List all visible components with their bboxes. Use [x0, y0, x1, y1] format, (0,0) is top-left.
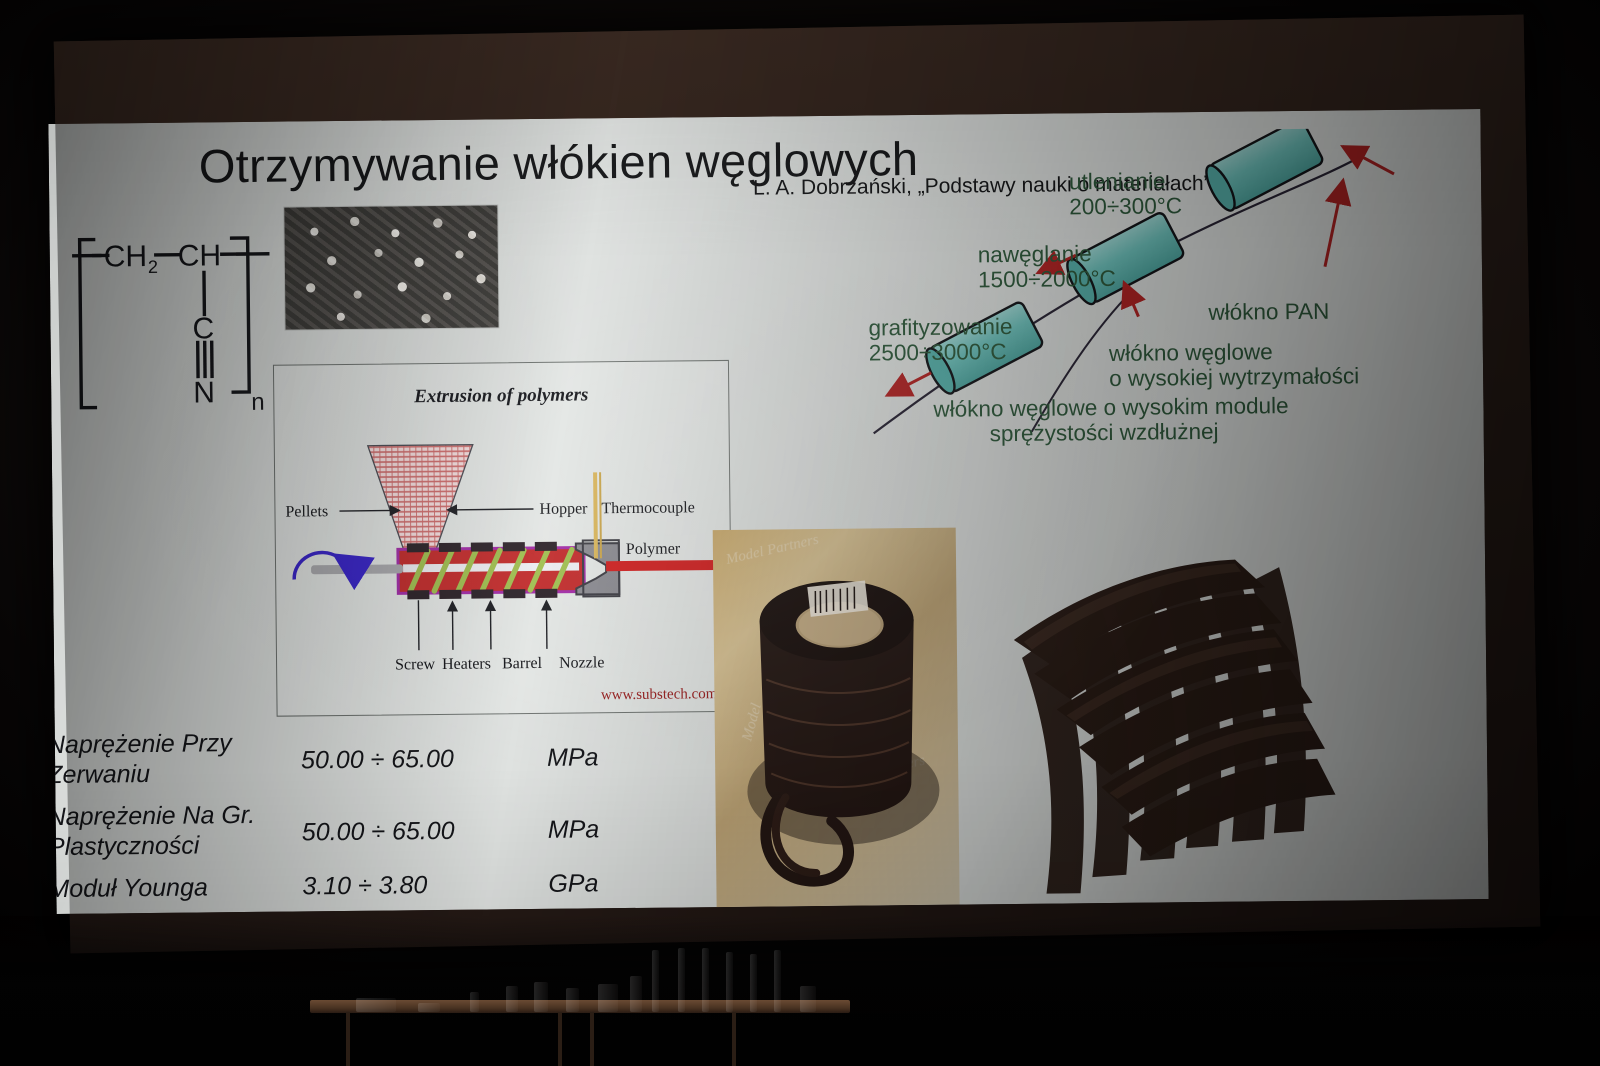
label-line2: o wysokiej wytrzymałości	[1109, 364, 1359, 392]
label-line1: włókno PAN	[1208, 299, 1329, 325]
glassware-item	[506, 986, 518, 1012]
bench-leg	[558, 1012, 562, 1066]
schematic-label-wysoki-modul: włókno węglowe o wysokim module sprężyst…	[933, 393, 1289, 448]
property-name-line1: Naprężenie Przy	[48, 729, 231, 759]
pan-structural-formula: CH 2 CH C N n	[71, 210, 283, 417]
extrusion-diagram-panel: Extrusion of polymers	[273, 360, 733, 717]
label-line1: włókno węglowe o wysokim module	[933, 393, 1288, 422]
page-title: Otrzymywanie włókien węglowych	[199, 129, 1100, 193]
glassware-item	[418, 1003, 440, 1012]
glassware-item	[598, 984, 618, 1012]
schematic-label-grafityzowanie: grafityzowanie 2500÷3000°C	[868, 314, 1012, 366]
glassware-item	[726, 952, 733, 1012]
property-value: 50.00 ÷ 65.00	[301, 745, 454, 776]
formula-c: C	[192, 312, 214, 345]
label-nozzle: Nozzle	[559, 654, 604, 671]
book-credit: L. A. Dobrzański, „Podstawy nauki o mate…	[753, 172, 1211, 201]
glassware-item	[800, 986, 816, 1012]
source-url: www.substech.com	[601, 686, 718, 704]
polymer-pellets-photo	[284, 205, 498, 329]
label-line2: sprężystości wzdłużnej	[934, 419, 1219, 447]
property-name-line1: Naprężenie Na Gr.	[48, 801, 255, 831]
projection-screen-frame: Otrzymywanie włókien węglowych	[54, 15, 1540, 954]
label-screw: Screw	[395, 656, 436, 673]
schematic-label-utlenianie: utlenianie 200÷300°C	[1069, 168, 1182, 220]
extrusion-diagram-svg: Pellets Hopper Thermocouple Polymer Scre…	[274, 361, 732, 716]
label-line2: 2500÷3000°C	[869, 339, 1007, 365]
property-unit: MPa	[548, 815, 600, 845]
glassware-item	[534, 982, 548, 1012]
glassware-item	[678, 948, 685, 1012]
label-line1: nawęglanie	[978, 241, 1092, 267]
label-pellets: Pellets	[285, 503, 328, 520]
svg-text:Model Partners: Model Partners	[723, 532, 820, 568]
glassware-item	[470, 992, 479, 1012]
slide-canvas: Otrzymywanie włókien węglowych	[48, 109, 1488, 914]
svg-text:Model: Model	[739, 702, 765, 744]
label-thermocouple: Thermocouple	[601, 499, 694, 517]
lab-bench	[300, 948, 860, 1066]
property-unit: MPa	[547, 743, 599, 773]
label-heaters: Heaters	[442, 655, 491, 673]
formula-n: N	[193, 376, 215, 409]
schematic-label-wysoka-wytrzymalosc: włókno węglowe o wysokiej wytrzymałości	[1109, 338, 1360, 391]
glassware-item	[774, 950, 781, 1012]
glassware-item	[652, 950, 659, 1012]
property-value: 50.00 ÷ 65.00	[302, 817, 455, 848]
fibre-schematic-svg	[739, 127, 1484, 465]
glassware-item	[566, 988, 579, 1012]
glassware-item	[356, 998, 396, 1012]
fibre-conversion-schematic	[739, 127, 1484, 465]
extrusion-diagram-title: Extrusion of polymers	[274, 383, 728, 410]
label-polymer: Polymer	[626, 540, 681, 558]
schematic-label-nawęglanie: nawęglanie 1500÷2000°C	[978, 241, 1116, 293]
property-name-line1: Moduł Younga	[48, 873, 208, 903]
glassware-item	[630, 976, 642, 1012]
glassware-item	[750, 954, 757, 1012]
label-line2: 200÷300°C	[1069, 194, 1182, 220]
bench-leg	[732, 1012, 736, 1066]
formula-ch2-subscript: 2	[148, 257, 158, 277]
label-line1: włókno węglowe	[1109, 339, 1273, 366]
formula-ch: CH	[178, 239, 222, 272]
label-hopper: Hopper	[539, 500, 588, 518]
photo-of-projected-slide: Otrzymywanie włókien węglowych	[0, 0, 1600, 1066]
svg-text:Model Partners: Model Partners	[830, 752, 927, 788]
properties-table: Naprężenie Przy Zerwaniu 50.00 ÷ 65.00 M…	[48, 109, 1480, 124]
label-line1: utlenianie	[1069, 168, 1166, 194]
property-name-line2: Plastyczności	[48, 831, 199, 861]
property-value: 3.10 ÷ 3.80	[302, 871, 427, 902]
table-row: Moduł Younga	[48, 873, 208, 904]
label-line2: 1500÷2000°C	[978, 266, 1116, 292]
property-name-line2: Zerwaniu	[48, 760, 150, 789]
label-line1: grafityzowanie	[868, 314, 1012, 341]
table-row: Naprężenie Przy Zerwaniu	[48, 729, 232, 790]
glassware-item	[702, 948, 709, 1012]
schematic-label-wlokno-pan: włókno PAN	[1208, 299, 1329, 326]
bench-leg	[346, 1012, 350, 1066]
label-barrel: Barrel	[502, 655, 543, 672]
woven-carbon-fabric-photo	[973, 539, 1347, 905]
property-unit: GPa	[548, 869, 598, 899]
formula-ch2: CH	[104, 240, 148, 273]
projected-slide-area: Otrzymywanie włókien węglowych	[48, 109, 1488, 914]
table-row: Naprężenie Na Gr. Plastyczności	[48, 801, 255, 862]
bench-leg	[590, 1012, 594, 1066]
formula-repeat-n: n	[251, 389, 265, 416]
carbon-fibre-spool-photo: Model Partners Model Partners Model	[713, 528, 960, 908]
